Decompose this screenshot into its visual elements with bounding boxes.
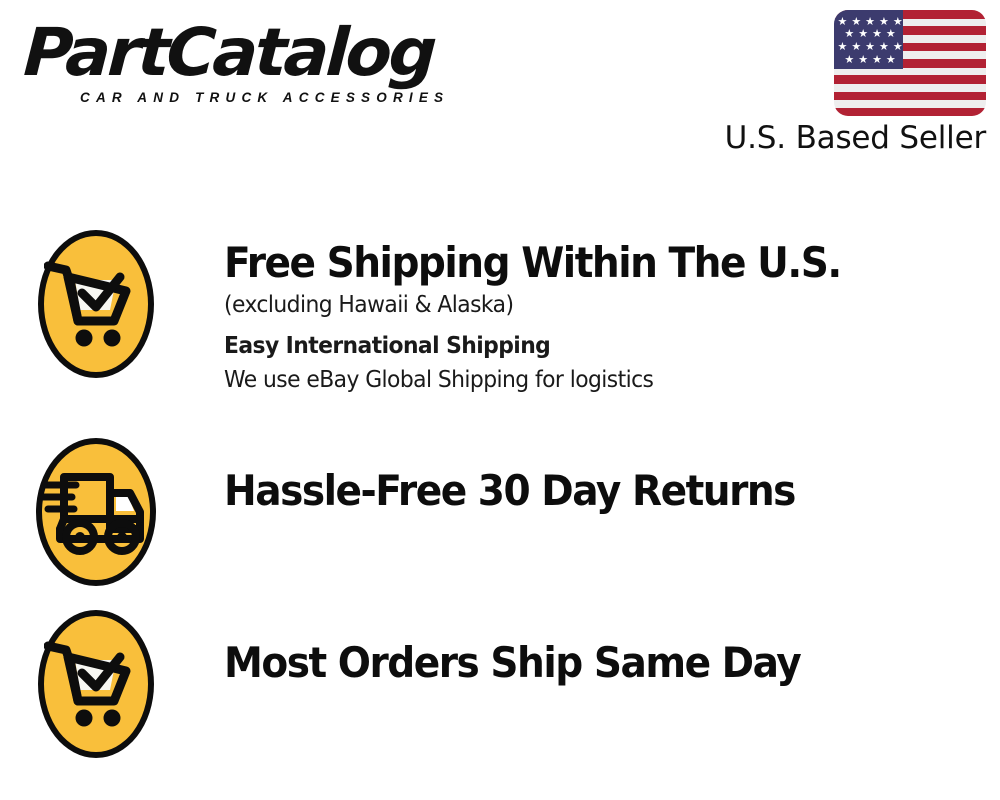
flag-canton: [834, 10, 903, 69]
flag-star: [837, 42, 847, 52]
feature-text: Hassle-Free 30 Day Returns: [152, 420, 1000, 516]
flag-star: [858, 55, 868, 65]
flag-star: [865, 42, 875, 52]
feature-subtext-logistics: We use eBay Global Shipping for logistic…: [224, 364, 961, 397]
flag-star: [872, 55, 882, 65]
flag-star: [886, 29, 896, 39]
feature-row-free-shipping: Free Shipping Within The U.S. (excluding…: [0, 230, 1000, 420]
brand-wordmark: PartCatalog: [22, 18, 505, 88]
feature-row-same-day-ship: Most Orders Ship Same Day: [0, 592, 1000, 752]
flag-star: [837, 17, 847, 27]
flag-star: [879, 42, 889, 52]
flag-star: [879, 17, 889, 27]
flag-star: [872, 29, 882, 39]
flag-star: [893, 17, 903, 27]
feature-row-returns: Hassle-Free 30 Day Returns: [0, 420, 1000, 592]
feature-text: Most Orders Ship Same Day: [152, 592, 1000, 688]
flag-star: [851, 42, 861, 52]
feature-heading: Most Orders Ship Same Day: [224, 638, 946, 688]
promo-banner: PartCatalog CAR AND TRUCK ACCESSORIES U.…: [0, 0, 1000, 800]
feature-icon-wrap: [0, 230, 152, 378]
brand-tagline: CAR AND TRUCK ACCESSORIES: [80, 90, 492, 105]
badge-circle: [36, 438, 156, 586]
feature-heading: Hassle-Free 30 Day Returns: [224, 466, 946, 516]
flag-star: [865, 17, 875, 27]
flag-star: [844, 29, 854, 39]
flag-stripe: [834, 75, 986, 84]
us-flag-icon: [834, 10, 986, 116]
feature-subtext-exclusions: (excluding Hawaii & Alaska): [224, 289, 961, 322]
badge-circle: [38, 230, 154, 378]
us-based-seller-badge: U.S. Based Seller: [716, 10, 986, 158]
flag-stripe: [834, 92, 986, 101]
flag-star: [893, 42, 903, 52]
feature-icon-wrap: [0, 420, 152, 586]
feature-icon-wrap: [0, 592, 152, 758]
seller-label: U.S. Based Seller: [725, 118, 986, 158]
feature-text: Free Shipping Within The U.S. (excluding…: [152, 230, 1000, 397]
delivery-truck-icon: [42, 467, 150, 557]
flag-star: [886, 55, 896, 65]
flag-star: [858, 29, 868, 39]
feature-heading: Free Shipping Within The U.S.: [224, 238, 946, 288]
feature-subtext-international: Easy International Shipping: [224, 330, 961, 363]
flag-star: [851, 17, 861, 27]
flag-stripe: [834, 108, 986, 116]
shopping-cart-check-icon: [44, 255, 148, 353]
feature-list: Free Shipping Within The U.S. (excluding…: [0, 230, 1000, 752]
shopping-cart-check-icon: [44, 635, 148, 733]
badge-circle: [38, 610, 154, 758]
brand-logo: PartCatalog CAR AND TRUCK ACCESSORIES: [22, 18, 492, 116]
flag-star: [844, 55, 854, 65]
